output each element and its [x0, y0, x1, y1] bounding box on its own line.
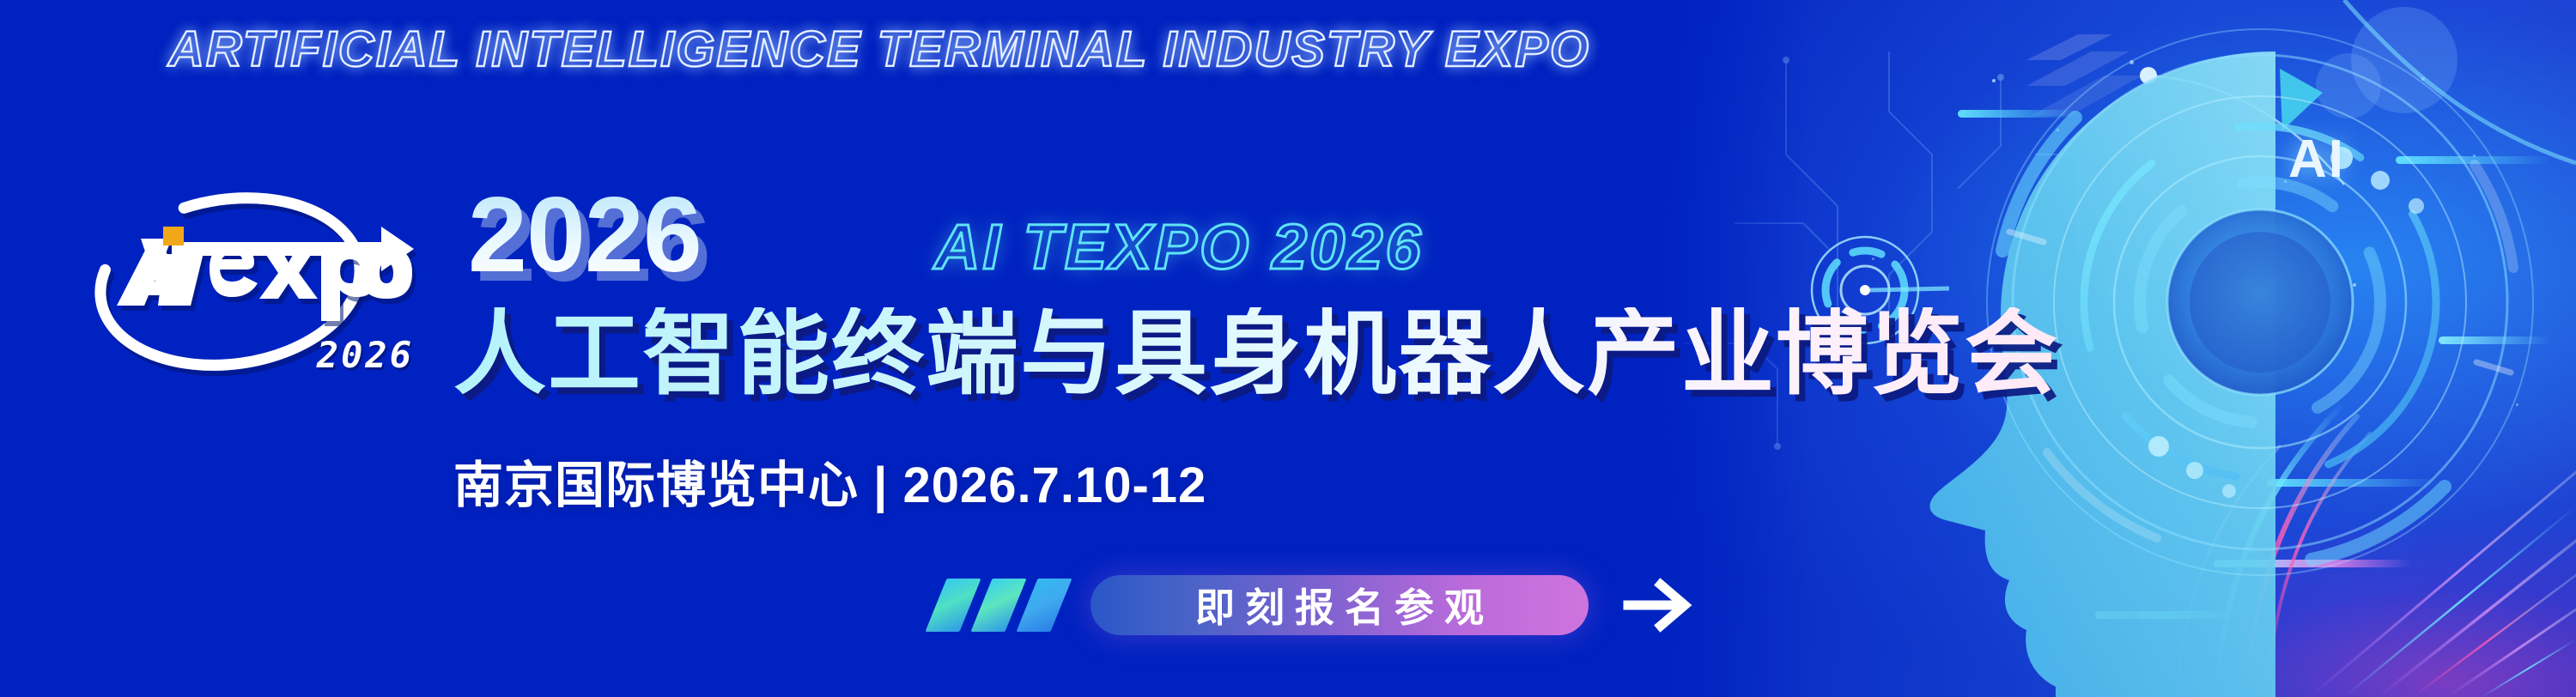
latin-title: AI TEXPO 2026: [934, 210, 1424, 283]
logo-accent-dot: [163, 227, 184, 245]
expo-banner: AI ARTIFICIAL INTELLIGENCE TERMINAL INDU…: [0, 0, 2576, 697]
slash-accent-decoration: [936, 579, 1061, 632]
aitexpo-logo[interactable]: 2026: [34, 172, 429, 395]
cta-group: 即刻报名参观: [936, 562, 1700, 648]
slash-accent: [1016, 579, 1072, 632]
register-button-label: 即刻报名参观: [1185, 577, 1494, 633]
arrow-right-icon[interactable]: [1623, 575, 1700, 635]
logo-year: 2026: [317, 334, 414, 376]
headline-year: 2026: [468, 182, 702, 288]
page-title: 人工智能终端与具身机器人产业博览会: [453, 307, 2059, 400]
register-button[interactable]: 即刻报名参观: [1091, 575, 1589, 635]
slash-accent: [970, 579, 1026, 632]
kicker-headline: ARTIFICIAL INTELLIGENCE TERMINAL INDUSTR…: [168, 21, 1590, 78]
venue-date-line: 南京国际博览中心 | 2026.7.10-12: [453, 445, 1206, 517]
slash-accent: [925, 579, 981, 632]
